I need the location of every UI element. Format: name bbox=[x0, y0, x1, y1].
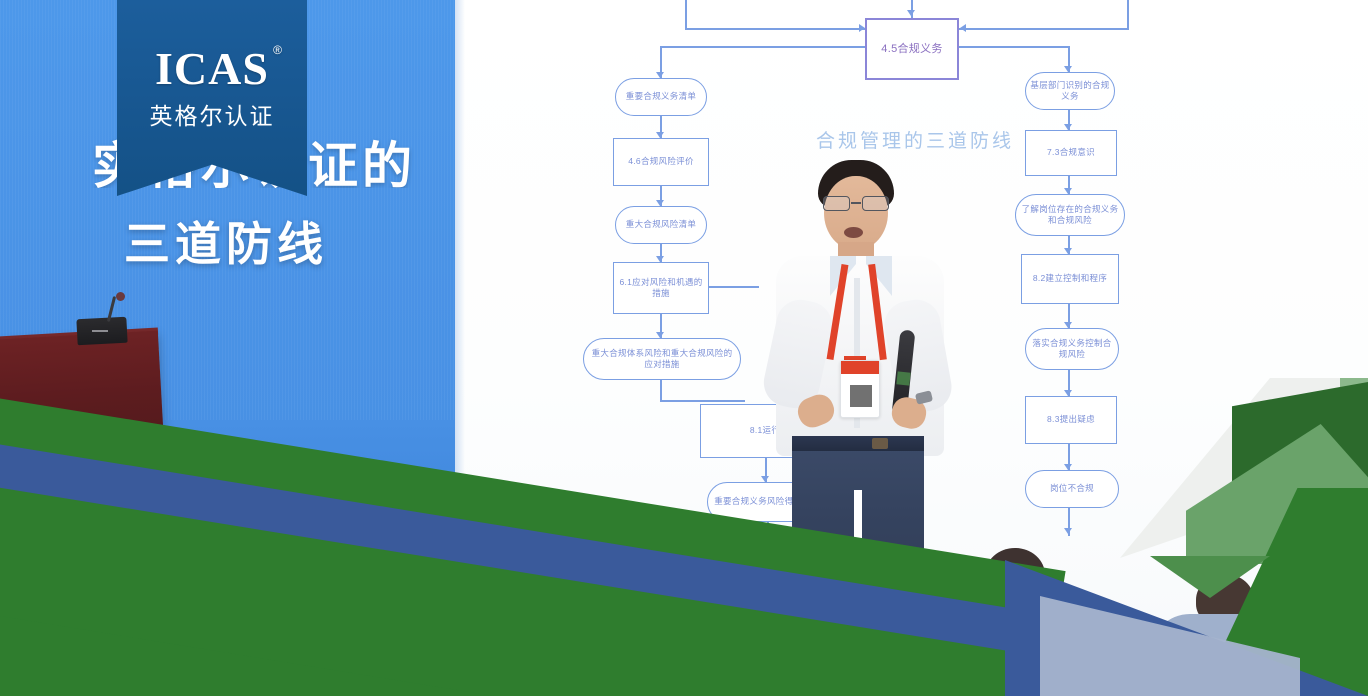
speaker-glasses-icon bbox=[822, 196, 890, 211]
icas-wordmark-label: ICAS bbox=[155, 43, 269, 94]
flow-node-left-2: 重大合规风险清单 bbox=[615, 206, 707, 244]
slide-title: 合规管理的三道防线 bbox=[800, 126, 1030, 153]
presentation-photo-stage: 实格尔认证的 三道防线 ICAS ® 英格尔认证 合规管理的三道防线 4.5合规… bbox=[0, 0, 1368, 696]
speaker-head bbox=[824, 176, 888, 250]
speaker-belt bbox=[792, 436, 924, 451]
flow-line bbox=[660, 380, 662, 402]
backdrop-headline-main: 三道防线 bbox=[124, 208, 444, 274]
flow-arrow-icon bbox=[907, 10, 915, 16]
flow-node-left-0: 重要合规义务清单 bbox=[615, 78, 707, 116]
icas-chinese-name: 英格尔认证 bbox=[150, 97, 275, 131]
glasses-lens-left bbox=[823, 196, 850, 211]
flow-node-right-1: 7.3合规意识 bbox=[1025, 130, 1117, 176]
flow-node-right-5: 8.3提出疑虑 bbox=[1025, 396, 1117, 444]
icas-wordmark-text: ICAS ® bbox=[155, 46, 269, 92]
flow-node-left-4: 重大合规体系风险和重大合规风险的应对措施 bbox=[583, 338, 741, 380]
flow-node-right-2: 了解岗位存在的合规义务和合规风险 bbox=[1015, 194, 1125, 236]
flow-line bbox=[959, 46, 1069, 48]
flow-node-left-3: 6.1应对风险和机遇的措施 bbox=[613, 262, 709, 314]
microphone-head-icon bbox=[116, 292, 125, 301]
microphone-indicator-icon bbox=[92, 330, 108, 332]
flow-node-right-6: 岗位不合规 bbox=[1025, 470, 1119, 508]
flow-arrow-icon bbox=[960, 24, 966, 32]
flow-node-center: 4.5合规义务 bbox=[865, 18, 959, 80]
registered-trademark-icon: ® bbox=[273, 44, 283, 56]
qr-code-icon bbox=[850, 385, 872, 407]
flow-node-right-3: 8.2建立控制和程序 bbox=[1021, 254, 1119, 304]
flow-node-right-0: 基层部门识别的合规义务 bbox=[1025, 72, 1115, 110]
glasses-bridge bbox=[851, 202, 861, 204]
flow-line bbox=[685, 0, 687, 28]
belt-buckle-icon bbox=[872, 438, 888, 449]
flow-arrow-icon bbox=[1064, 528, 1072, 534]
flow-line bbox=[660, 400, 745, 402]
flow-line bbox=[660, 46, 865, 48]
flow-line bbox=[685, 28, 865, 30]
flow-line bbox=[959, 28, 1129, 30]
flow-arrow-icon bbox=[859, 24, 865, 32]
speaker-mouth bbox=[844, 227, 863, 238]
badge-header-band bbox=[841, 361, 879, 374]
glasses-lens-right bbox=[862, 196, 889, 211]
flow-line bbox=[709, 286, 759, 288]
flow-node-left-1: 4.6合规风险评价 bbox=[613, 138, 709, 186]
microphone-status-band bbox=[896, 371, 910, 385]
attendee-badge bbox=[840, 360, 880, 418]
flow-node-right-4: 落实合规义务控制合规风险 bbox=[1025, 328, 1119, 370]
flow-line bbox=[1127, 0, 1129, 28]
